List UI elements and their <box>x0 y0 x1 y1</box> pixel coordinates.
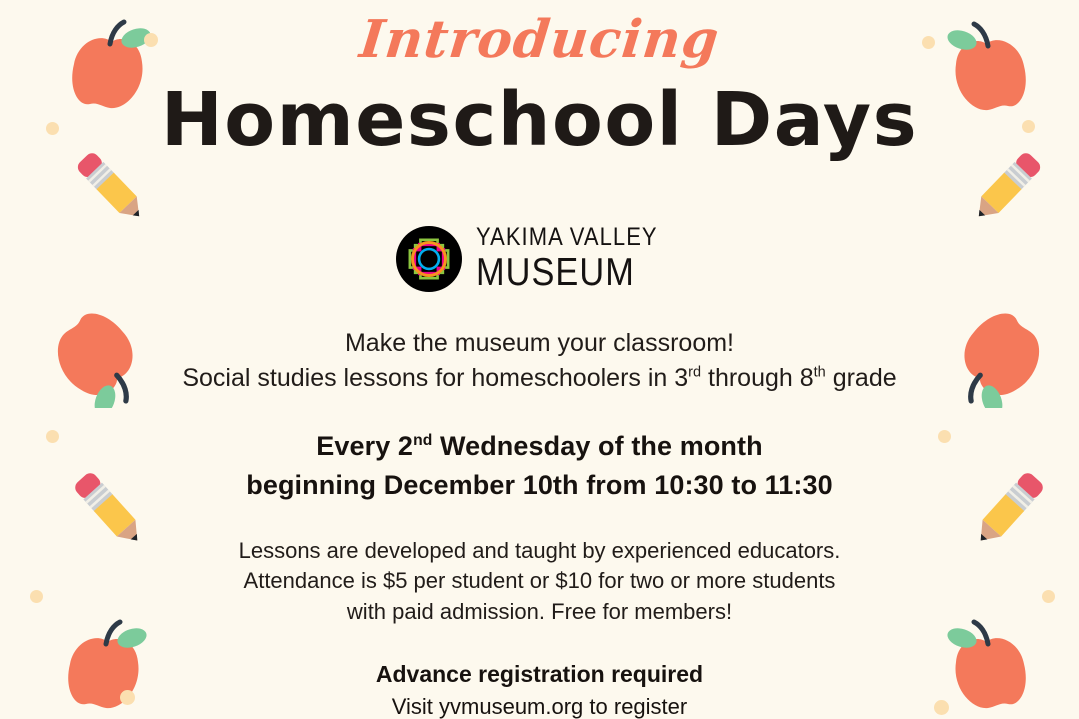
schedule-line-2: beginning December 10th from 10:30 to 11… <box>246 466 832 505</box>
schedule-ordinal-2nd: nd <box>413 432 432 449</box>
registration-copy: Advance registration required Visit yvmu… <box>376 658 703 719</box>
registration-headline: Advance registration required <box>376 658 703 691</box>
details-copy: Lessons are developed and taught by expe… <box>239 536 841 628</box>
schedule-line-1-part2: Wednesday of the month <box>432 431 762 461</box>
intro-line-2-part3: grade <box>826 364 897 392</box>
museum-logo-text: YAKIMA VALLEY MUSEUM <box>476 225 682 292</box>
eyebrow-introducing: Introducing <box>357 14 721 66</box>
museum-logo: YAKIMA VALLEY MUSEUM <box>396 225 682 292</box>
intro-copy: Make the museum your classroom! Social s… <box>182 326 896 395</box>
museum-name-line2: MUSEUM <box>476 253 635 292</box>
page-title: Homeschool Days <box>161 82 918 160</box>
museum-logo-mark-icon <box>396 226 462 292</box>
intro-line-2-part1: Social studies lessons for homeschoolers… <box>182 364 688 392</box>
details-line-1: Lessons are developed and taught by expe… <box>239 536 841 567</box>
details-line-3: with paid admission. Free for members! <box>239 597 841 628</box>
intro-ordinal-8th: th <box>814 364 826 380</box>
intro-ordinal-3rd: rd <box>688 364 701 380</box>
intro-line-1: Make the museum your classroom! <box>182 326 896 361</box>
details-line-2: Attendance is $5 per student or $10 for … <box>239 566 841 597</box>
poster-canvas: Introducing Homeschool Days YAKIMA VALLE… <box>0 0 1079 719</box>
schedule-line-1: Every 2nd Wednesday of the month <box>246 427 832 466</box>
intro-line-2-part2: through 8 <box>701 364 814 392</box>
registration-instruction: Visit yvmuseum.org to register <box>376 691 703 719</box>
schedule-copy: Every 2nd Wednesday of the month beginni… <box>246 427 832 505</box>
museum-name-line1: YAKIMA VALLEY <box>476 225 658 250</box>
schedule-line-1-part1: Every 2 <box>316 431 413 461</box>
intro-line-2: Social studies lessons for homeschoolers… <box>182 361 896 396</box>
